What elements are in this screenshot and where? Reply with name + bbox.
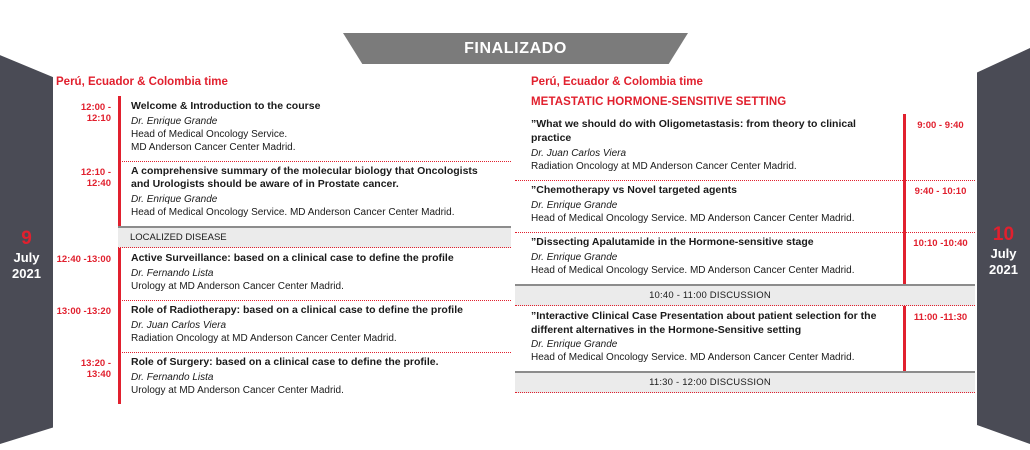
- day-tab-right: 10 July 2021: [977, 48, 1030, 444]
- session-time: 13:20 - 13:40: [56, 352, 118, 404]
- session-title: Welcome & Introduction to the course: [131, 100, 493, 114]
- session-affiliation: Urology at MD Anderson Cancer Center Mad…: [131, 384, 493, 397]
- session-affiliation: Head of Medical Oncology Service. MD And…: [531, 264, 895, 277]
- session-speaker: Dr. Enrique Grande: [131, 115, 493, 128]
- day-tab-left: 9 July 2021: [0, 52, 53, 444]
- day-year: 2021: [0, 266, 53, 281]
- session-time: 9:40 - 10:10: [906, 180, 975, 232]
- session-affiliation: Radiation Oncology at MD Anderson Cancer…: [131, 332, 493, 345]
- day-month: July: [977, 246, 1030, 261]
- session-details: Role of Surgery: based on a clinical cas…: [121, 352, 493, 404]
- session-title: ”Chemotherapy vs Novel targeted agents: [531, 184, 895, 198]
- session-speaker: Dr. Enrique Grande: [531, 338, 895, 351]
- day-number: 9: [0, 228, 53, 250]
- session-row[interactable]: ”Chemotherapy vs Novel targeted agentsDr…: [531, 180, 975, 232]
- session-time: 12:10 - 12:40: [56, 161, 118, 227]
- session-details: ”Dissecting Apalutamide in the Hormone-s…: [531, 232, 903, 284]
- session-affiliation: Urology at MD Anderson Cancer Center Mad…: [131, 280, 493, 293]
- session-speaker: Dr. Juan Carlos Viera: [531, 147, 895, 160]
- session-time: 10:10 -10:40: [906, 232, 975, 284]
- session-title: ”Dissecting Apalutamide in the Hormone-s…: [531, 236, 895, 250]
- session-time: 9:00 - 9:40: [906, 114, 975, 180]
- day-month: July: [0, 250, 53, 265]
- session-details: Role of Radiotherapy: based on a clinica…: [121, 300, 493, 352]
- session-time: 12:00 - 12:10: [56, 96, 118, 161]
- agenda-band: LOCALIZED DISEASE: [118, 226, 511, 248]
- session-speaker: Dr. Enrique Grande: [131, 193, 493, 206]
- session-speaker: Dr. Juan Carlos Viera: [131, 319, 493, 332]
- session-details: ”Interactive Clinical Case Presentation …: [531, 306, 903, 372]
- agenda-band: 11:30 - 12:00 DISCUSSION: [515, 371, 975, 393]
- session-title: Role of Radiotherapy: based on a clinica…: [131, 304, 493, 318]
- agenda-canvas: 9 July 2021 10 July 2021 FINALIZADO Perú…: [0, 0, 1030, 450]
- session-row[interactable]: ”Interactive Clinical Case Presentation …: [531, 306, 975, 372]
- session-affiliation: Head of Medical Oncology Service. MD And…: [531, 351, 895, 364]
- session-affiliation: Head of Medical Oncology Service.: [131, 128, 493, 141]
- day-tab-right-content: 10 July 2021: [977, 224, 1030, 277]
- day-number: 10: [977, 224, 1030, 246]
- session-details: ”What we should do with Oligometastasis:…: [531, 114, 903, 180]
- agenda-column-day-10: Perú, Ecuador & Colombia time METASTATIC…: [531, 76, 975, 393]
- session-details: ”Chemotherapy vs Novel targeted agentsDr…: [531, 180, 903, 232]
- session-row[interactable]: ”What we should do with Oligometastasis:…: [531, 114, 975, 180]
- timezone-label-left: Perú, Ecuador & Colombia time: [56, 76, 493, 89]
- session-row[interactable]: 12:00 - 12:10Welcome & Introduction to t…: [56, 96, 493, 161]
- session-list-left: 12:00 - 12:10Welcome & Introduction to t…: [56, 96, 493, 404]
- session-title: ”What we should do with Oligometastasis:…: [531, 118, 895, 146]
- session-row[interactable]: 13:20 - 13:40Role of Surgery: based on a…: [56, 352, 493, 404]
- agenda-band: 10:40 - 11:00 DISCUSSION: [515, 284, 975, 306]
- session-row[interactable]: 12:10 - 12:40A comprehensive summary of …: [56, 161, 493, 227]
- session-speaker: Dr. Fernando Lista: [131, 267, 493, 280]
- session-row[interactable]: 12:40 -13:00Active Surveillance: based o…: [56, 248, 493, 300]
- status-badge: FINALIZADO: [343, 33, 688, 64]
- session-affiliation: Head of Medical Oncology Service. MD And…: [131, 206, 493, 219]
- session-row[interactable]: ”Dissecting Apalutamide in the Hormone-s…: [531, 232, 975, 284]
- session-title: ”Interactive Clinical Case Presentation …: [531, 310, 895, 338]
- session-affiliation: Radiation Oncology at MD Anderson Cancer…: [531, 160, 895, 173]
- section-title-metastatic: METASTATIC HORMONE-SENSITIVE SETTING: [531, 96, 975, 109]
- session-list-right: ”What we should do with Oligometastasis:…: [531, 114, 975, 393]
- session-speaker: Dr. Enrique Grande: [531, 199, 895, 212]
- agenda-column-day-9: Perú, Ecuador & Colombia time 12:00 - 12…: [56, 76, 493, 404]
- session-details: A comprehensive summary of the molecular…: [121, 161, 493, 227]
- session-affiliation: MD Anderson Cancer Center Madrid.: [131, 141, 493, 154]
- session-title: A comprehensive summary of the molecular…: [131, 165, 493, 193]
- session-row[interactable]: 13:00 -13:20Role of Radiotherapy: based …: [56, 300, 493, 352]
- session-speaker: Dr. Fernando Lista: [131, 371, 493, 384]
- session-details: Active Surveillance: based on a clinical…: [121, 248, 493, 300]
- session-speaker: Dr. Enrique Grande: [531, 251, 895, 264]
- timezone-label-right: Perú, Ecuador & Colombia time: [531, 76, 975, 89]
- day-year: 2021: [977, 262, 1030, 277]
- day-tab-left-content: 9 July 2021: [0, 228, 53, 281]
- session-title: Role of Surgery: based on a clinical cas…: [131, 356, 493, 370]
- session-time: 11:00 -11:30: [906, 306, 975, 372]
- session-details: Welcome & Introduction to the courseDr. …: [121, 96, 493, 161]
- session-time: 12:40 -13:00: [56, 248, 118, 300]
- agenda-band-label: 10:40 - 11:00 DISCUSSION: [649, 290, 771, 301]
- session-title: Active Surveillance: based on a clinical…: [131, 252, 493, 266]
- session-time: 13:00 -13:20: [56, 300, 118, 352]
- agenda-band-label: LOCALIZED DISEASE: [130, 232, 227, 243]
- session-affiliation: Head of Medical Oncology Service. MD And…: [531, 212, 895, 225]
- agenda-band-label: 11:30 - 12:00 DISCUSSION: [649, 377, 771, 388]
